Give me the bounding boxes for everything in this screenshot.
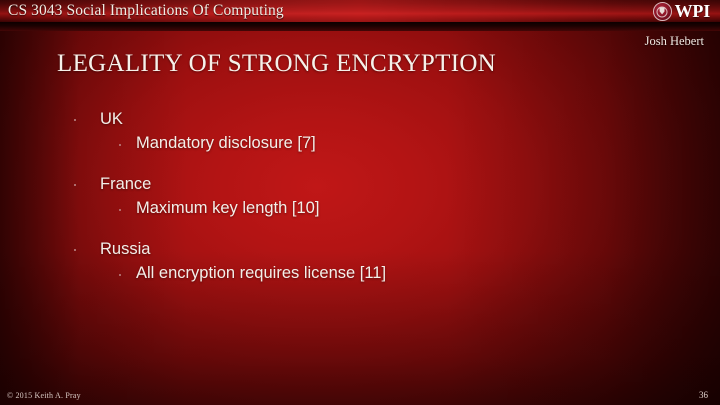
bullet-group: UK Mandatory disclosure [7] bbox=[0, 108, 720, 155]
bullet-item-level1: UK bbox=[0, 108, 720, 130]
bullet-dot-icon bbox=[74, 249, 76, 251]
bullet-dot-icon bbox=[74, 119, 76, 121]
bullet-label: Russia bbox=[100, 240, 150, 258]
sub-bullet-dot-icon bbox=[119, 144, 121, 146]
bullet-item-level1: Russia bbox=[0, 238, 720, 260]
sub-bullet-label: Maximum key length [10] bbox=[136, 199, 319, 217]
sub-bullet-label: Mandatory disclosure [7] bbox=[136, 134, 316, 152]
wpi-logo: WPI bbox=[653, 1, 710, 22]
bullet-list: UK Mandatory disclosure [7] France Maxim… bbox=[0, 108, 720, 285]
bullet-label: UK bbox=[100, 110, 123, 128]
bullet-group: France Maximum key length [10] bbox=[0, 173, 720, 220]
header-underline bbox=[0, 22, 720, 31]
copyright-notice: © 2015 Keith A. Pray bbox=[7, 391, 81, 400]
page-number: 36 bbox=[699, 390, 708, 400]
sub-bullet-dot-icon bbox=[119, 274, 121, 276]
slide: CS 3043 Social Implications Of Computing… bbox=[0, 0, 720, 405]
course-title: CS 3043 Social Implications Of Computing bbox=[8, 0, 284, 22]
author-name: Josh Hebert bbox=[645, 34, 704, 49]
sub-bullet-dot-icon bbox=[119, 209, 121, 211]
bullet-item-level2: All encryption requires license [11] bbox=[0, 262, 720, 285]
bullet-item-level2: Mandatory disclosure [7] bbox=[0, 132, 720, 155]
wpi-wordmark: WPI bbox=[675, 2, 710, 21]
page-title: LEGALITY OF STRONG ENCRYPTION bbox=[57, 50, 496, 78]
bullet-label: France bbox=[100, 175, 151, 193]
wpi-seal-icon bbox=[653, 2, 672, 21]
sub-bullet-label: All encryption requires license [11] bbox=[136, 264, 386, 282]
bullet-group: Russia All encryption requires license [… bbox=[0, 238, 720, 285]
bullet-item-level2: Maximum key length [10] bbox=[0, 197, 720, 220]
bullet-dot-icon bbox=[74, 184, 76, 186]
bullet-item-level1: France bbox=[0, 173, 720, 195]
